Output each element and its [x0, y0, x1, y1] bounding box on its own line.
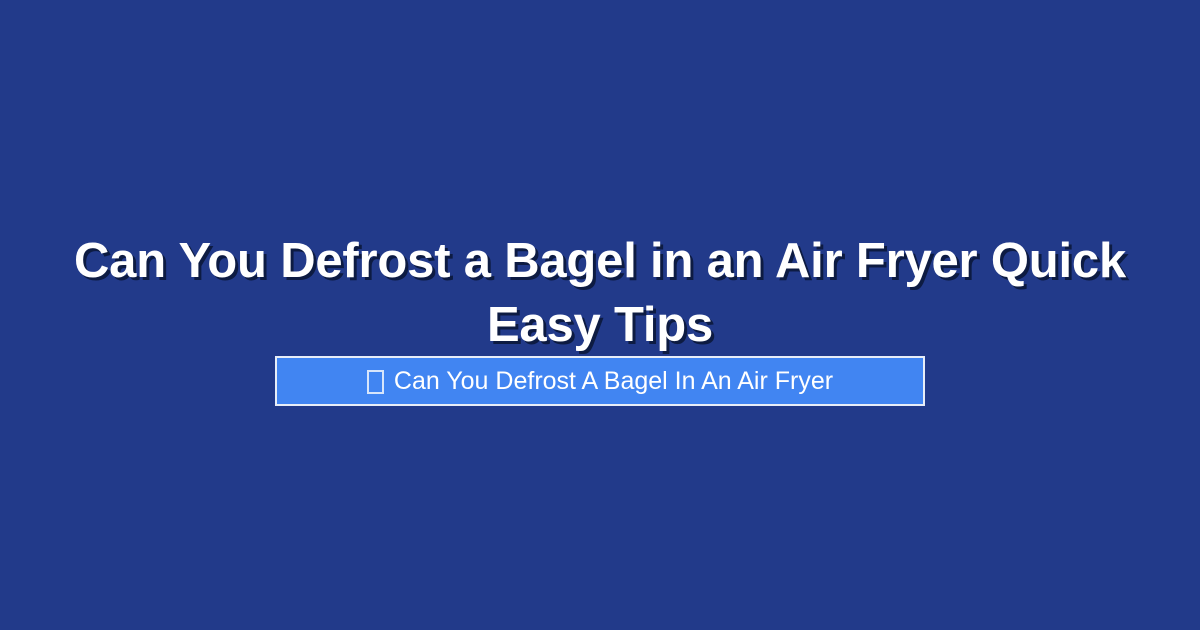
og-card: Can You Defrost a Bagel in an Air Fryer … [0, 0, 1200, 630]
cta-row: Can You Defrost A Bagel In An Air Fryer [0, 356, 1200, 406]
cta-button[interactable]: Can You Defrost A Bagel In An Air Fryer [275, 356, 925, 406]
cta-button-label: Can You Defrost A Bagel In An Air Fryer [394, 369, 833, 394]
page-title: Can You Defrost a Bagel in an Air Fryer … [60, 229, 1140, 357]
missing-glyph-box-icon [367, 370, 384, 394]
